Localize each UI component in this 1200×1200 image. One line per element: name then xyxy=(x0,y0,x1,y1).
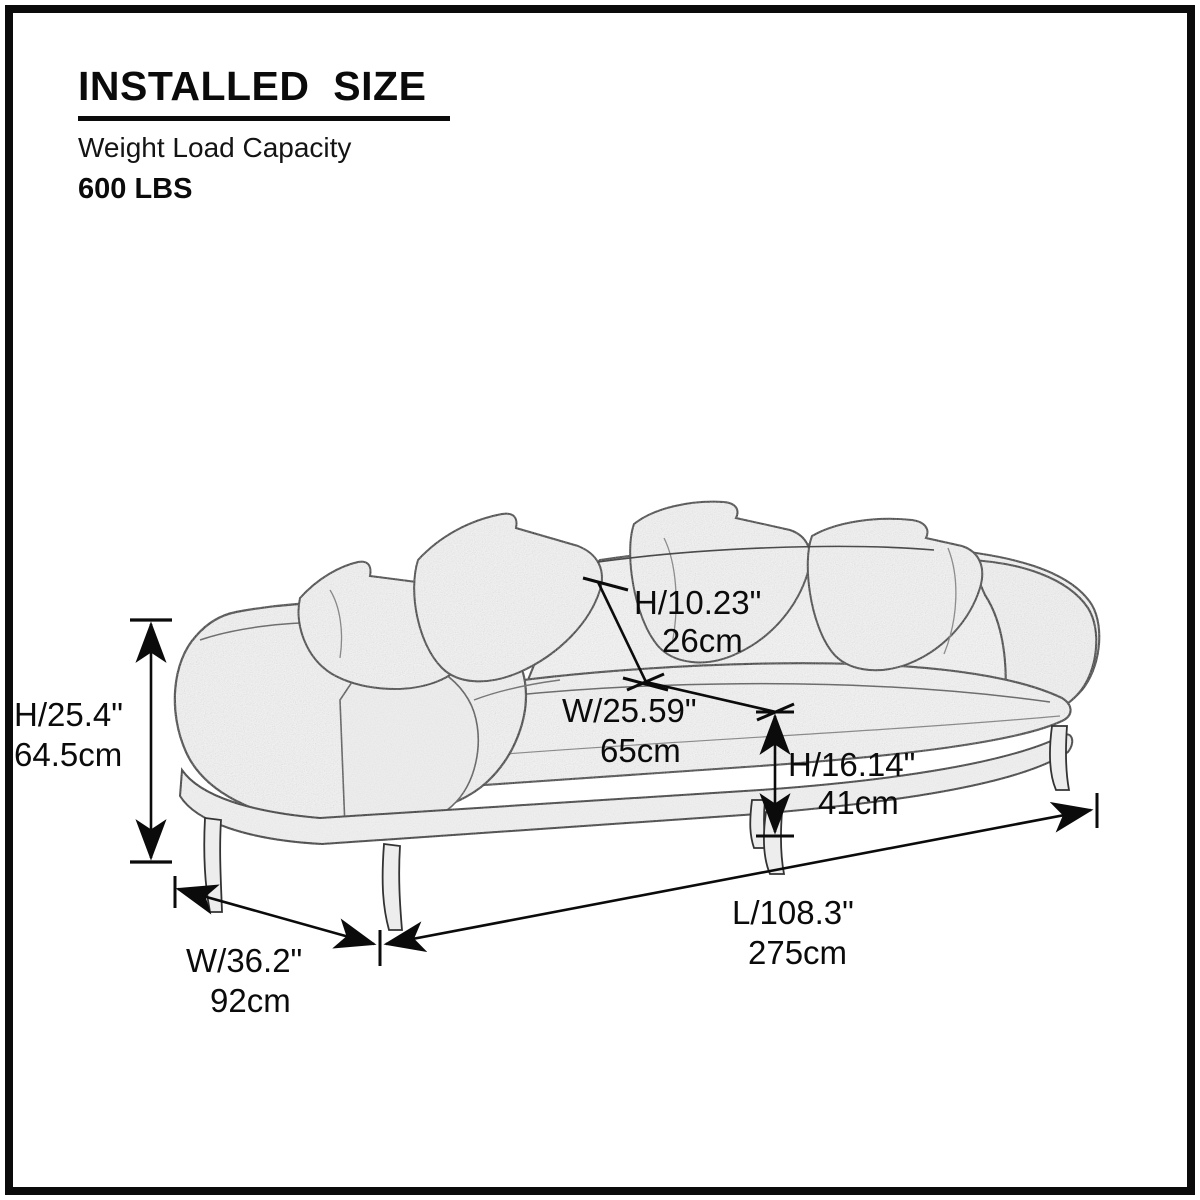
overall-depth-label-metric: 92cm xyxy=(210,982,291,1019)
leg-front-left xyxy=(383,844,402,930)
overall-length-label-metric: 275cm xyxy=(748,934,847,971)
back-cushion-label-imperial: H/10.23" xyxy=(634,584,761,621)
seat-height-label-metric: 41cm xyxy=(818,784,899,821)
overall-height-label-metric: 64.5cm xyxy=(14,736,122,773)
overall-depth-arrow xyxy=(178,889,374,944)
overall-height-label-imperial: H/25.4" xyxy=(14,696,123,733)
overall-depth-dimension: W/36.2" 92cm xyxy=(175,876,380,1019)
seat-depth-label-metric: 65cm xyxy=(600,732,681,769)
back-cushion-label-metric: 26cm xyxy=(662,622,743,659)
sofa-diagram-svg: H/25.4" 64.5cm H/10.23" 26cm W/25.59" 65… xyxy=(0,0,1200,1200)
overall-height-dimension: H/25.4" 64.5cm xyxy=(14,620,172,862)
diagram-page: INSTALLED SIZE Weight Load Capacity 600 … xyxy=(0,0,1200,1200)
seat-height-label-imperial: H/16.14" xyxy=(788,746,915,783)
overall-depth-label-imperial: W/36.2" xyxy=(186,942,302,979)
leg-right-end xyxy=(1050,726,1069,790)
seat-depth-label-imperial: W/25.59" xyxy=(562,692,697,729)
overall-length-label-imperial: L/108.3" xyxy=(732,894,854,931)
